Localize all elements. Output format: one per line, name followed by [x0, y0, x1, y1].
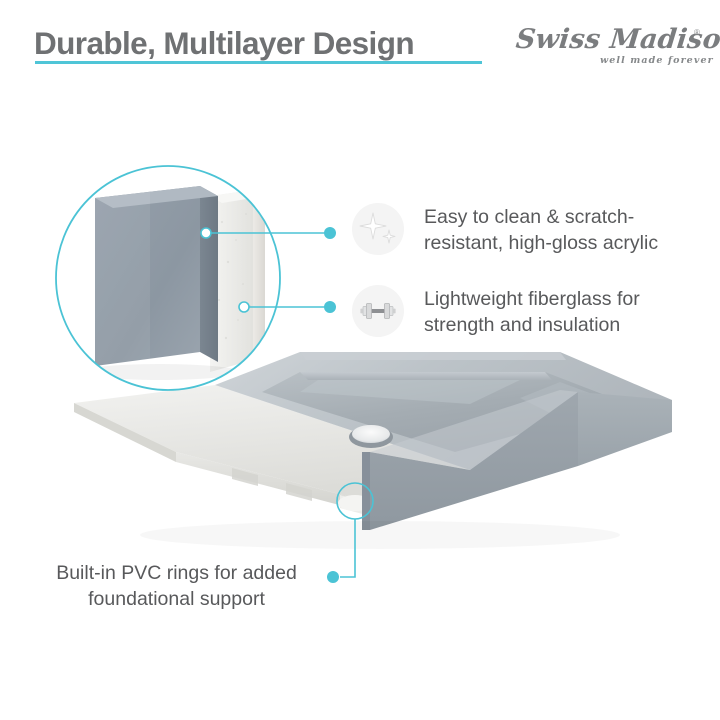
feature-item-acrylic: Easy to clean & scratch-resistant, high-…	[352, 203, 692, 256]
sparkle-glyph	[352, 203, 404, 255]
leader-end-dot-1	[324, 227, 336, 239]
acrylic-gloss	[95, 192, 150, 366]
material-callout	[56, 166, 280, 390]
feature-label: Easy to clean & scratch-resistant, high-…	[424, 203, 692, 256]
leader-origin-dot-2	[239, 302, 249, 312]
sparkle-shine-icon	[352, 203, 404, 255]
dumbbell-glyph	[352, 285, 404, 337]
pvc-leader-dot	[327, 571, 339, 583]
leader-end-dot-2	[324, 301, 336, 313]
fiberglass-layer-edge	[253, 190, 265, 360]
leader-origin-dot-1	[201, 228, 211, 238]
drain-hole	[352, 425, 390, 443]
callout-shadow	[80, 364, 240, 380]
feature-item-fiberglass: Lightweight fiberglass for strength and …	[352, 285, 692, 338]
acrylic-layer-edge	[200, 186, 218, 362]
base-right-face	[578, 392, 672, 466]
infographic-canvas: Durable, Multilayer Design Swiss Madison…	[0, 0, 720, 720]
base-front-corner	[362, 452, 370, 530]
callout-contents	[80, 186, 265, 380]
product-illustration	[0, 0, 720, 720]
rim-back-highlight	[300, 352, 566, 360]
pvc-ring-caption: Built-in PVC rings for added foundationa…	[30, 560, 323, 612]
feature-label: Lightweight fiberglass for strength and …	[424, 285, 692, 338]
basin-back-wall	[300, 372, 552, 380]
base-shadow	[140, 521, 620, 549]
dumbbell-icon	[352, 285, 404, 337]
